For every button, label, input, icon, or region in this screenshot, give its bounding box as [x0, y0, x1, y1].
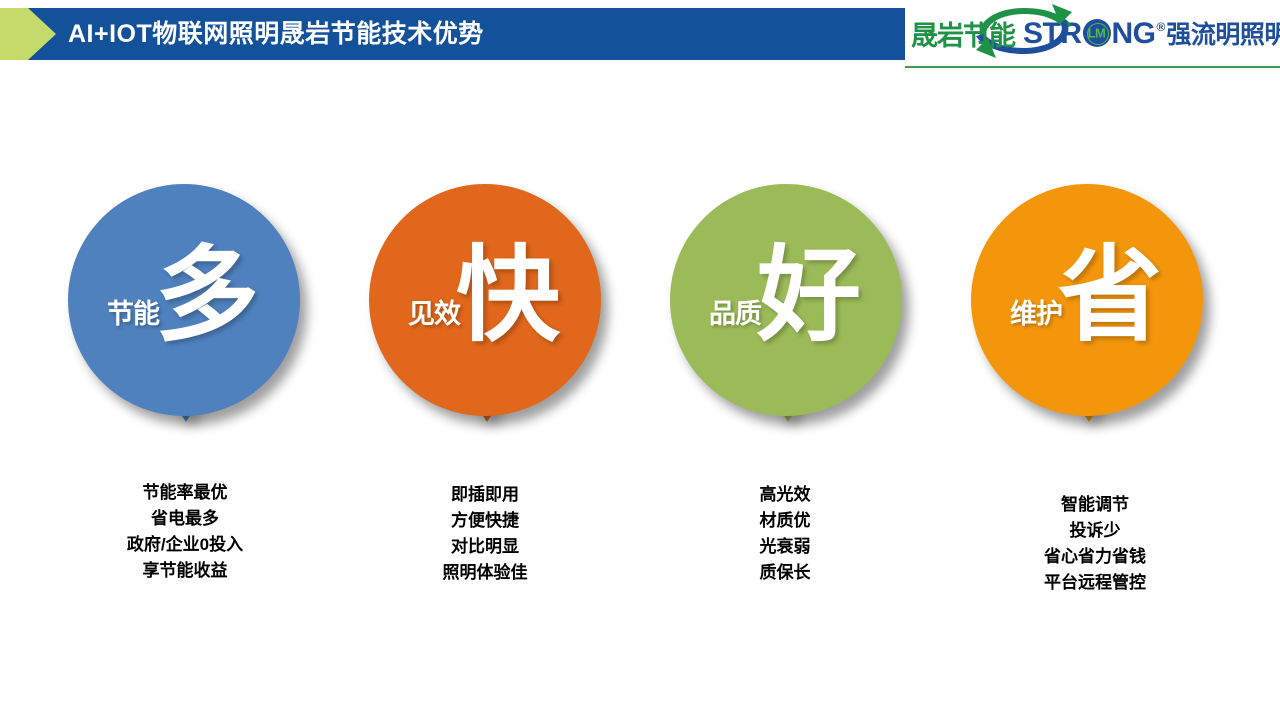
bubble-item[interactable]: 品质 好	[670, 184, 902, 416]
feature-column: 智能调节投诉少省心省力省钱平台远程管控	[955, 492, 1235, 596]
bubble-big-label: 省	[1058, 244, 1160, 348]
bubble-item[interactable]: 见效 快	[369, 184, 601, 416]
feature-column: 高光效材质优光衰弱质保长	[645, 482, 925, 586]
bubble-label: 见效 快	[369, 184, 601, 416]
bubble-group: 节能 多 见效 快 品质 好 维护 省	[0, 0, 1280, 720]
bubble-big-label: 好	[757, 244, 859, 348]
feature-column: 即插即用方便快捷对比明显照明体验佳	[345, 482, 625, 586]
bubble-item[interactable]: 节能 多	[68, 184, 300, 416]
bubble-big-label: 多	[155, 244, 257, 348]
bubble-big-label: 快	[456, 244, 558, 348]
bubble-label: 品质 好	[670, 184, 902, 416]
logo-brand-cn: 晟岩节能	[911, 14, 1015, 53]
feature-line: 享节能收益	[45, 558, 325, 584]
feature-line: 平台远程管控	[955, 570, 1235, 596]
bubble-small-label: 品质	[709, 301, 761, 328]
feature-line: 投诉少	[955, 518, 1235, 544]
feature-line: 节能率最优	[45, 480, 325, 506]
feature-line: 政府/企业0投入	[45, 532, 325, 558]
feature-line: 对比明显	[345, 534, 625, 560]
feature-line: 方便快捷	[345, 508, 625, 534]
feature-column: 节能率最优省电最多政府/企业0投入享节能收益	[45, 480, 325, 584]
feature-line: 智能调节	[955, 492, 1235, 518]
feature-line: 省电最多	[45, 506, 325, 532]
feature-line: 即插即用	[345, 482, 625, 508]
bubble-label: 节能 多	[68, 184, 300, 416]
feature-line: 质保长	[645, 560, 925, 586]
feature-line: 材质优	[645, 508, 925, 534]
feature-line: 光衰弱	[645, 534, 925, 560]
feature-line: 高光效	[645, 482, 925, 508]
bubble-small-label: 见效	[408, 301, 460, 328]
bubble-small-label: 节能	[107, 301, 159, 328]
feature-line: 省心省力省钱	[955, 544, 1235, 570]
feature-line: 照明体验佳	[345, 560, 625, 586]
bubble-label: 维护 省	[971, 184, 1203, 416]
bubble-item[interactable]: 维护 省	[971, 184, 1203, 416]
bubble-small-label: 维护	[1010, 301, 1062, 328]
